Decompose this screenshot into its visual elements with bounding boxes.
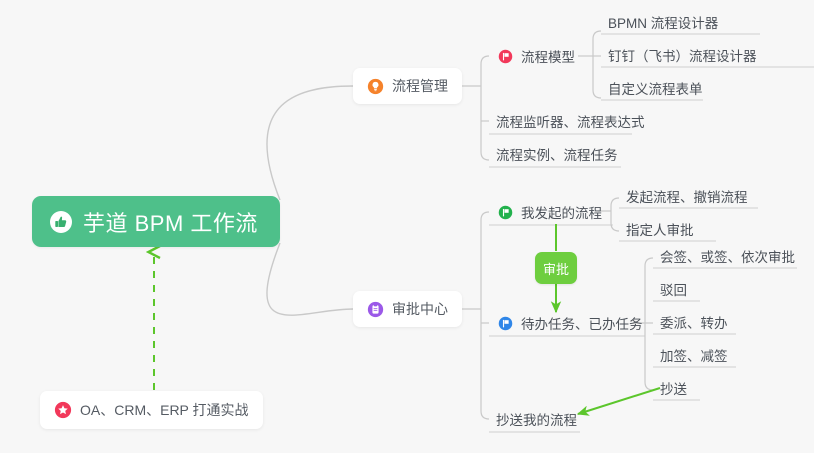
node-assignee-approval-label: 指定人审批 — [626, 219, 694, 239]
node-process-model[interactable]: 流程模型 — [491, 42, 582, 70]
node-add-remove-sign-label: 加签、减签 — [660, 345, 728, 365]
node-start-cancel-process-label: 发起流程、撤销流程 — [626, 186, 748, 206]
node-process-listener-expression-label: 流程监听器、流程表达式 — [496, 111, 645, 131]
node-delegate-transfer-label: 委派、转办 — [660, 312, 728, 332]
flag-icon — [498, 205, 513, 220]
node-bpmn-designer[interactable]: BPMN 流程设计器 — [601, 8, 725, 36]
node-approval-center[interactable]: 审批中心 — [353, 291, 462, 327]
node-approval-center-label: 审批中心 — [392, 299, 448, 319]
node-my-initiated-process[interactable]: 我发起的流程 — [491, 198, 609, 226]
clipboard-icon — [367, 301, 384, 318]
star-icon — [54, 401, 72, 419]
node-todo-done-tasks[interactable]: 待办任务、已办任务 — [491, 309, 650, 337]
node-bpmn-designer-label: BPMN 流程设计器 — [608, 12, 718, 32]
node-cc-to-me-process[interactable]: 抄送我的流程 — [489, 405, 584, 433]
bracket-my-initiated — [611, 198, 619, 231]
node-todo-done-tasks-label: 待办任务、已办任务 — [521, 313, 643, 333]
node-integration-practice-label: OA、CRM、ERP 打通实战 — [80, 400, 249, 420]
bracket-approval-center — [481, 212, 489, 419]
node-countersign-orsign-sequential-label: 会签、或签、依次审批 — [660, 246, 795, 266]
node-cc-to-me-process-label: 抄送我的流程 — [496, 409, 577, 429]
node-reject[interactable]: 驳回 — [653, 275, 694, 303]
flag-icon — [498, 316, 513, 331]
node-process-management[interactable]: 流程管理 — [353, 68, 462, 104]
root-node[interactable]: 芋道 BPM 工作流 — [32, 196, 280, 247]
mindmap-canvas: 芋道 BPM 工作流 流程管理 审批中心 — [0, 0, 814, 453]
node-process-instance-task-label: 流程实例、流程任务 — [496, 144, 618, 164]
node-my-initiated-process-label: 我发起的流程 — [521, 202, 602, 222]
approval-badge[interactable]: 审批 — [535, 252, 577, 284]
flow-arrow-cc-to-my-cc-process — [578, 388, 660, 414]
node-countersign-orsign-sequential[interactable]: 会签、或签、依次审批 — [653, 242, 802, 270]
node-process-instance-task[interactable]: 流程实例、流程任务 — [489, 140, 625, 168]
lightbulb-pin-icon — [367, 78, 384, 95]
node-process-management-label: 流程管理 — [392, 76, 448, 96]
root-node-label: 芋道 BPM 工作流 — [83, 206, 258, 238]
thumbs-up-icon — [49, 210, 73, 234]
node-integration-practice[interactable]: OA、CRM、ERP 打通实战 — [40, 391, 263, 429]
bracket-process-model — [593, 31, 601, 98]
node-process-listener-expression[interactable]: 流程监听器、流程表达式 — [489, 107, 652, 135]
node-carbon-copy[interactable]: 抄送 — [653, 374, 694, 402]
node-delegate-transfer[interactable]: 委派、转办 — [653, 308, 735, 336]
approval-badge-label: 审批 — [543, 259, 569, 278]
node-dingtalk-feishu-designer-label: 钉钉（飞书）流程设计器 — [608, 45, 757, 65]
bracket-process-management — [481, 56, 489, 160]
node-start-cancel-process[interactable]: 发起流程、撤销流程 — [619, 182, 755, 210]
node-custom-process-form[interactable]: 自定义流程表单 — [601, 74, 710, 102]
node-process-model-label: 流程模型 — [521, 46, 575, 66]
flag-icon — [498, 49, 513, 64]
edge-root-to-process-management — [267, 86, 353, 200]
edge-root-to-approval-center — [267, 243, 353, 315]
node-carbon-copy-label: 抄送 — [660, 378, 687, 398]
node-custom-process-form-label: 自定义流程表单 — [608, 78, 703, 98]
node-add-remove-sign[interactable]: 加签、减签 — [653, 341, 735, 369]
node-assignee-approval[interactable]: 指定人审批 — [619, 215, 701, 243]
node-dingtalk-feishu-designer[interactable]: 钉钉（飞书）流程设计器 — [601, 41, 764, 69]
node-reject-label: 驳回 — [660, 279, 687, 299]
